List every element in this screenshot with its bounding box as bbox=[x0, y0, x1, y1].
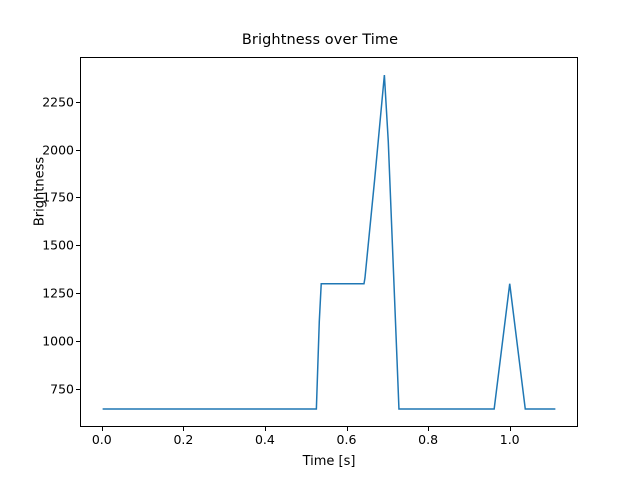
x-tick-label-0.8: 0.8 bbox=[418, 432, 438, 447]
brightness-line-series bbox=[103, 75, 556, 409]
figure-canvas: Brightness over Time 2250 2000 1750 1500… bbox=[0, 0, 640, 480]
chart-title: Brightness over Time bbox=[0, 32, 640, 48]
x-tick-mark-0.2 bbox=[183, 427, 184, 431]
x-tick-mark-0.0 bbox=[102, 427, 103, 431]
x-tick-label-0.0: 0.0 bbox=[92, 432, 112, 447]
y-tick-label-1000: 1000 bbox=[42, 334, 74, 349]
x-tick-label-1.0: 1.0 bbox=[500, 432, 520, 447]
x-tick-mark-1.0 bbox=[510, 427, 511, 431]
x-tick-mark-0.4 bbox=[265, 427, 266, 431]
x-tick-label-0.2: 0.2 bbox=[173, 432, 193, 447]
x-axis-label: Time [s] bbox=[80, 454, 578, 469]
x-tick-label-0.6: 0.6 bbox=[337, 432, 357, 447]
x-tick-mark-0.6 bbox=[347, 427, 348, 431]
plot-area bbox=[80, 57, 578, 427]
x-tick-label-0.4: 0.4 bbox=[255, 432, 275, 447]
x-tick-mark-0.8 bbox=[428, 427, 429, 431]
y-axis-label: Brightness bbox=[33, 92, 48, 292]
y-tick-label-750: 750 bbox=[50, 381, 74, 396]
